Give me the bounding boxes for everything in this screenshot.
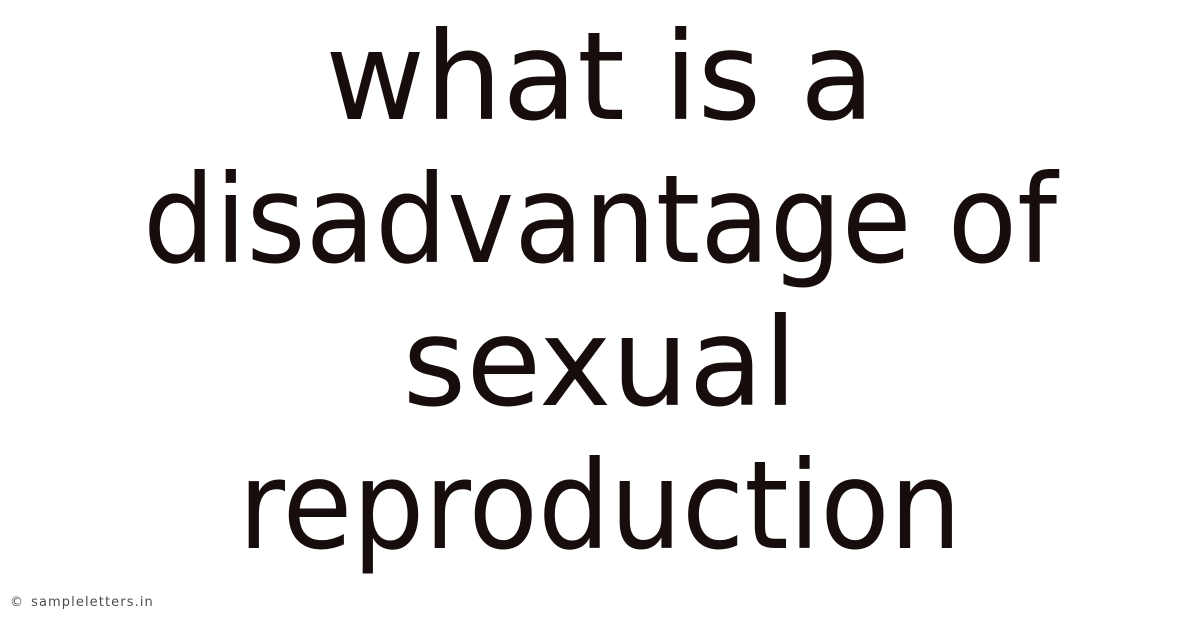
headline-line-1: what is a (0, 6, 1200, 149)
watermark: © sampleletters.in (10, 596, 154, 610)
headline-line-2: disadvantage of (42, 149, 1158, 292)
copyright-icon: © (10, 596, 24, 610)
headline-line-3: sexual (0, 292, 1200, 435)
watermark-site-label: sampleletters.in (31, 596, 154, 610)
text-card: what is a disadvantage of sexual reprodu… (0, 0, 1200, 628)
headline-block: what is a disadvantage of sexual reprodu… (0, 0, 1200, 590)
headline-line-4: reproduction (42, 435, 1158, 578)
